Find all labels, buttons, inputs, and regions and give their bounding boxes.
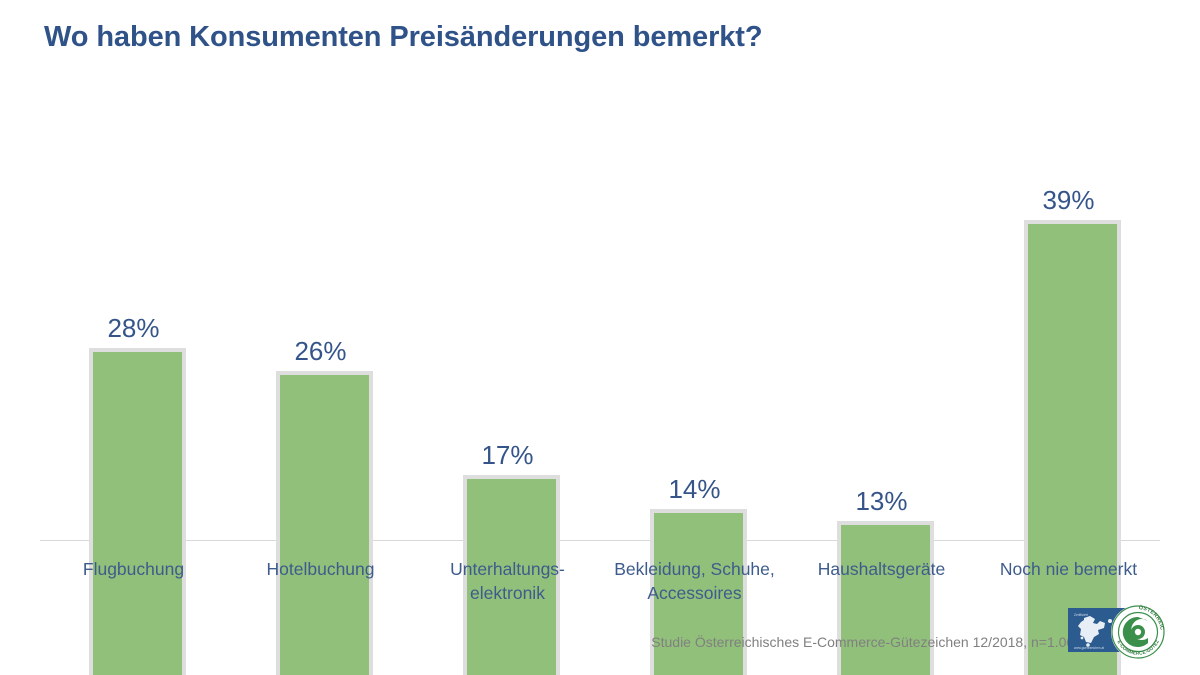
bar-chart: 28% Flugbuchung 26% Hotelbuchung 17% Unt…	[0, 0, 1200, 675]
category-label: Haushaltsgeräte	[788, 558, 975, 582]
bar-wrapper	[40, 135, 227, 675]
bar-value-label: 28%	[40, 315, 227, 341]
svg-text:www.guetezeichen.at: www.guetezeichen.at	[1074, 646, 1104, 650]
category-label: Hotelbuchung	[227, 558, 414, 582]
bar-group: 26%	[227, 135, 414, 675]
slide-canvas: Wo haben Konsumenten Preisänderungen bem…	[0, 0, 1200, 675]
category-label-line: Bekleidung, Schuhe,	[601, 558, 788, 582]
bar-group: 28%	[40, 135, 227, 675]
bar-value-label: 14%	[601, 476, 788, 502]
source-note: Studie Österreichisches E-Commerce-Gütez…	[651, 634, 1082, 650]
category-label-line: Hotelbuchung	[227, 558, 414, 582]
category-label-line: Accessoires	[601, 582, 788, 606]
bar-value-label: 26%	[227, 338, 414, 364]
bar[interactable]	[276, 371, 373, 675]
bar-value-label: 13%	[788, 488, 975, 514]
bar-value-label: 39%	[975, 187, 1162, 213]
bar-wrapper	[975, 135, 1162, 675]
bar-wrapper	[227, 135, 414, 675]
category-label-line: Noch nie bemerkt	[975, 558, 1162, 582]
category-label: Bekleidung, Schuhe, Accessoires	[601, 558, 788, 605]
guetezeichen-logo: Zertifiziert www.guetezeichen.at ÖSTERRE…	[1068, 604, 1170, 660]
category-label-line: Flugbuchung	[40, 558, 227, 582]
bar[interactable]	[837, 521, 934, 675]
svg-text:Zertifiziert: Zertifiziert	[1074, 613, 1088, 617]
bar-value-label: 17%	[414, 442, 601, 468]
bar-group: 13%	[788, 135, 975, 675]
category-label-line: elektronik	[414, 582, 601, 606]
category-label: Noch nie bemerkt	[975, 558, 1162, 582]
category-label: Flugbuchung	[40, 558, 227, 582]
bar[interactable]	[89, 348, 186, 675]
bar-wrapper	[788, 135, 975, 675]
category-label-line: Unterhaltungs-	[414, 558, 601, 582]
bar-group: 39%	[975, 135, 1162, 675]
category-label: Unterhaltungs- elektronik	[414, 558, 601, 605]
category-label-line: Haushaltsgeräte	[788, 558, 975, 582]
